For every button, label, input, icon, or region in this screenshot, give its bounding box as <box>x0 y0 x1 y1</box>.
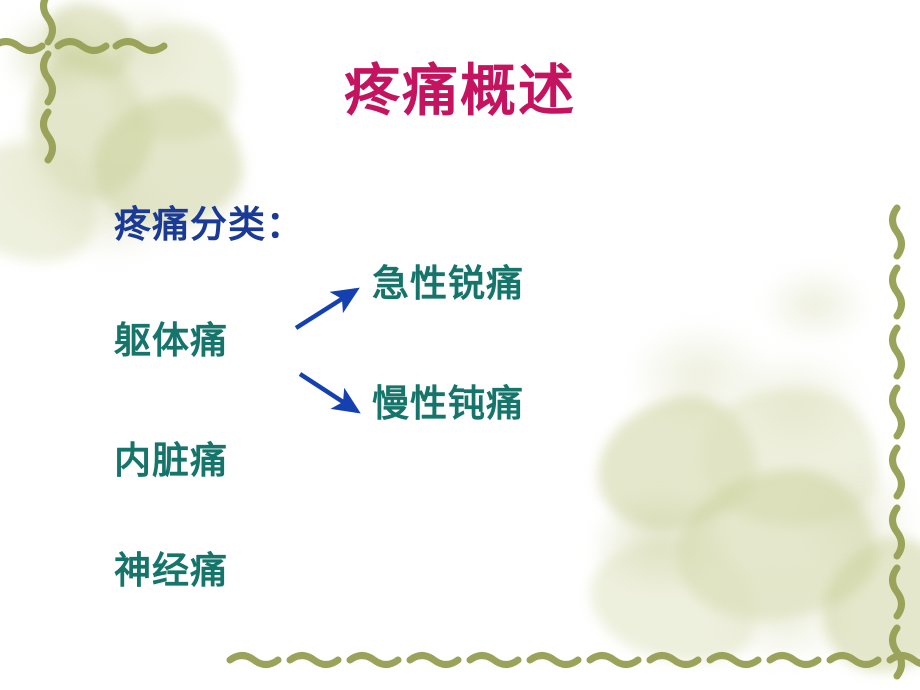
arrow-to-chronic <box>300 374 357 411</box>
category-somatic-pain: 躯体痛 <box>114 322 228 359</box>
category-neuropathic-pain: 神经痛 <box>114 552 228 589</box>
category-visceral-pain: 内脏痛 <box>114 442 228 479</box>
subtype-chronic-dull-pain: 慢性钝痛 <box>372 385 524 422</box>
right-vertical-bamboo-rule <box>893 208 902 676</box>
pain-classification-label: 疼痛分类： <box>114 206 304 243</box>
slide-canvas: 疼痛概述 疼痛分类： 躯体痛 内脏痛 神经痛 急性锐痛 慢性钝痛 <box>0 0 920 690</box>
bamboo-horizontal-top <box>0 42 164 51</box>
page-title: 疼痛概述 <box>0 64 920 120</box>
arrow-to-acute <box>296 290 356 328</box>
subtype-acute-sharp-pain: 急性锐痛 <box>372 265 524 302</box>
bottom-horizontal-bamboo-rule <box>230 656 920 665</box>
